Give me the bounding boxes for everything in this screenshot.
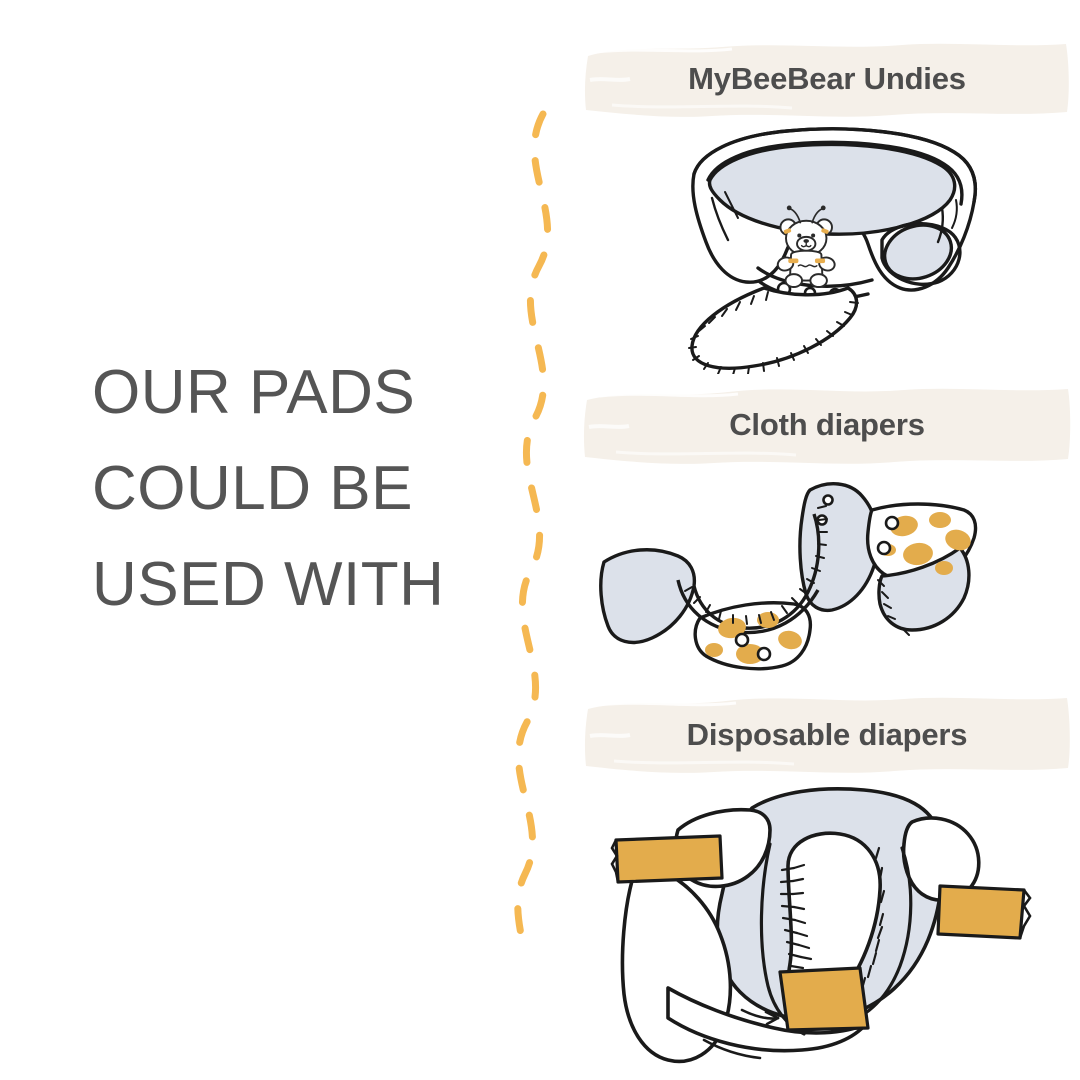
label-banner-cloth-diaper: Cloth diapers [582,382,1072,468]
headline-block: OUR PADS COULD BE USED WITH [92,345,492,633]
product-item-cloth-diaper[interactable]: Cloth diapers [560,382,1080,694]
label-banner-disposable-diaper: Disposable diapers [582,692,1072,778]
headline-line-2: COULD BE [92,441,492,537]
product-label-cloth-diaper: Cloth diapers [582,382,1072,468]
product-item-undies[interactable]: MyBeeBear Undies [560,36,1080,386]
product-label-disposable-diaper: Disposable diapers [582,692,1072,778]
disposable-diaper-icon [582,778,1072,1078]
headline-line-3: USED WITH [92,537,492,633]
product-label-undies: MyBeeBear Undies [582,36,1072,122]
cloth-diaper-icon [582,468,1072,690]
product-list: MyBeeBear Undies [560,0,1080,1080]
label-banner-undies: MyBeeBear Undies [582,36,1072,122]
product-item-disposable-diaper[interactable]: Disposable diapers [560,692,1080,1080]
infographic-canvas: OUR PADS COULD BE USED WITH MyBeeBear Un… [0,0,1080,1080]
undies-icon [582,122,1072,374]
headline-line-1: OUR PADS [92,345,492,441]
